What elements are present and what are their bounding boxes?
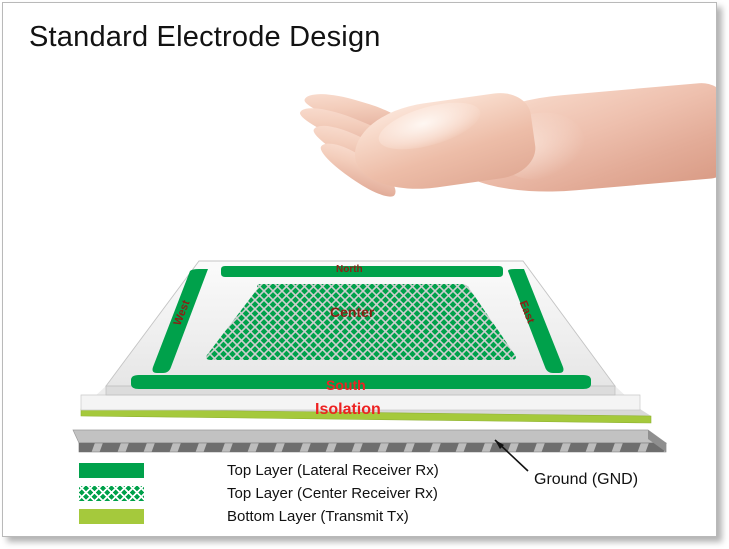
label-west: West xyxy=(172,299,193,328)
legend-label-lateral-rx: Top Layer (Lateral Receiver Rx) xyxy=(227,462,439,479)
top-electrode-plate xyxy=(106,261,615,395)
label-isolation: Isolation xyxy=(315,401,381,419)
label-south: South xyxy=(326,377,366,393)
legend-label-center-rx: Top Layer (Center Receiver Rx) xyxy=(227,485,438,502)
legend-swatch-solid-green xyxy=(79,463,144,478)
center-receiver-pad xyxy=(206,284,516,360)
ground-callout-arrow xyxy=(495,440,528,471)
ground-front-edge xyxy=(79,443,666,452)
ground-right-edge xyxy=(648,430,666,452)
hand-photo xyxy=(299,83,717,213)
legend-item-center-rx: Top Layer (Center Receiver Rx) xyxy=(79,482,439,505)
legend-label-transmit-tx: Bottom Layer (Transmit Tx) xyxy=(227,508,409,525)
ground-layer xyxy=(73,430,666,452)
slide-frame: Standard Electrode Design xyxy=(2,2,717,537)
east-electrode-bar xyxy=(508,269,564,373)
legend-item-transmit-tx: Bottom Layer (Transmit Tx) xyxy=(79,505,439,528)
legend-item-lateral-rx: Top Layer (Lateral Receiver Rx) xyxy=(79,459,439,482)
legend-swatch-hatch-green xyxy=(79,486,144,501)
ground-top-face xyxy=(73,430,666,443)
label-east: East xyxy=(517,299,537,325)
label-north: North xyxy=(336,264,363,275)
legend: Top Layer (Lateral Receiver Rx) Top Laye… xyxy=(79,459,439,528)
page-title: Standard Electrode Design xyxy=(29,21,381,54)
label-center: Center xyxy=(330,304,374,320)
legend-swatch-yellow-green xyxy=(79,509,144,524)
label-ground: Ground (GND) xyxy=(534,471,638,489)
